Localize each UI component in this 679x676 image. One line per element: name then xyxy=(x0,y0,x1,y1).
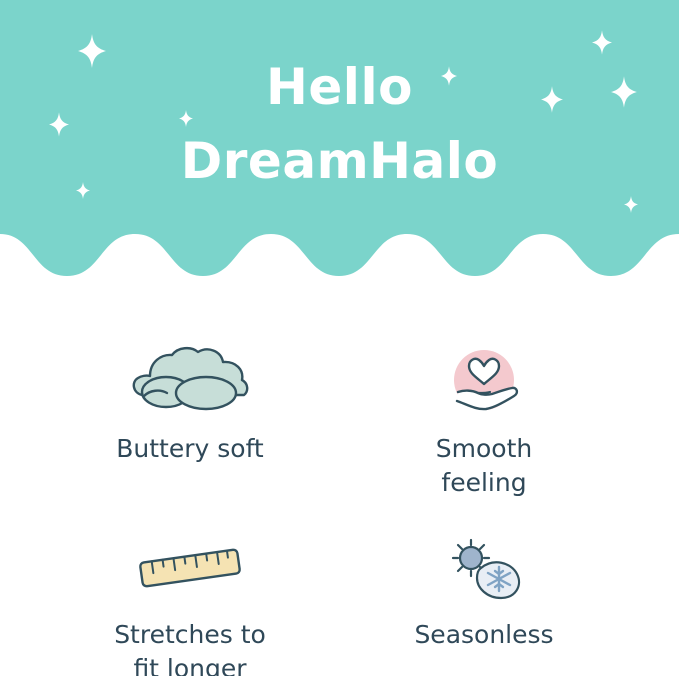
feature-label: Buttery soft xyxy=(50,432,330,466)
header-banner: Hello DreamHalo xyxy=(0,0,679,268)
scalloped-edge xyxy=(0,232,679,276)
page-title: Hello DreamHalo xyxy=(0,50,679,198)
feature-item-stretches: Stretches to fit longer xyxy=(50,528,330,676)
feature-item-smooth-feeling: Smooth feeling xyxy=(344,342,624,500)
feature-grid: Buttery soft Smooth feeling xyxy=(0,330,679,676)
hand-holding-heart-icon xyxy=(442,346,526,418)
feature-item-seasonless: Seasonless xyxy=(344,528,624,652)
sparkle-icon xyxy=(624,196,638,213)
sun-snowflake-icon xyxy=(441,532,527,604)
title-line-2: DreamHalo xyxy=(0,124,679,198)
cloud-icon-wrap xyxy=(50,342,330,422)
hand-holding-heart-icon-wrap xyxy=(344,342,624,422)
feature-label: Seasonless xyxy=(344,618,624,652)
ruler-icon xyxy=(135,542,245,594)
feature-label: Smooth feeling xyxy=(344,432,624,500)
ruler-icon-wrap xyxy=(50,528,330,608)
feature-label: Stretches to fit longer xyxy=(50,618,330,676)
cloud-icon xyxy=(120,346,260,418)
feature-item-buttery-soft: Buttery soft xyxy=(50,342,330,466)
promo-card: Hello DreamHalo Buttery soft xyxy=(0,0,679,676)
sun-snowflake-icon-wrap xyxy=(344,528,624,608)
title-line-1: Hello xyxy=(0,50,679,124)
